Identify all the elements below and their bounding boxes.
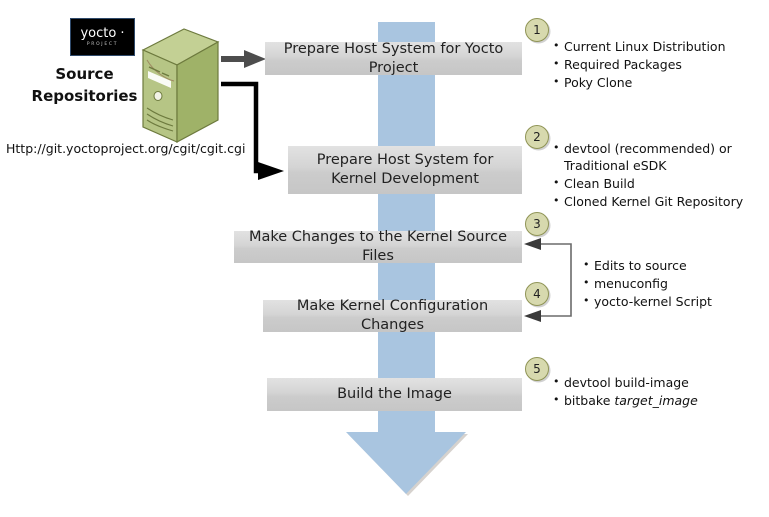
list-item: devtool (recommended) or Traditional eSD… — [553, 140, 758, 174]
list-item: bitbake target_image — [553, 392, 753, 409]
yocto-logo-text: yocto · — [80, 27, 124, 40]
list-item-emphasis: target_image — [614, 393, 697, 408]
step-number-5: 5 — [525, 357, 549, 381]
list-item: menuconfig — [583, 275, 743, 292]
process-box-step3[interactable]: Make Changes to the Kernel Source Files — [234, 231, 522, 263]
server-tower-icon — [138, 28, 223, 143]
bullet-list-steps-3-4: Edits to source menuconfig yocto-kernel … — [583, 257, 743, 311]
yocto-logo-subtext: PROJECT — [87, 42, 118, 47]
list-item: Current Linux Distribution — [553, 38, 763, 55]
list-item: yocto-kernel Script — [583, 293, 743, 310]
process-box-step4[interactable]: Make Kernel Configuration Changes — [263, 300, 522, 332]
bracket-steps-3-4 — [524, 238, 571, 322]
bullet-list-step2: devtool (recommended) or Traditional eSD… — [553, 140, 758, 211]
list-item: Clean Build — [553, 175, 758, 192]
diagram-canvas: yocto · PROJECT Source Repositories Http… — [0, 0, 769, 517]
step-number-4: 4 — [525, 282, 549, 306]
list-item-text: bitbake — [564, 393, 614, 408]
source-label-line1: Source — [22, 63, 147, 85]
source-label-line2: Repositories — [22, 85, 147, 107]
list-item: devtool build-image — [553, 374, 753, 391]
process-box-step5[interactable]: Build the Image — [267, 378, 522, 411]
list-item: Edits to source — [583, 257, 743, 274]
process-box-step2[interactable]: Prepare Host System for Kernel Developme… — [288, 146, 522, 194]
source-repositories-label: Source Repositories — [22, 63, 147, 107]
yocto-project-logo: yocto · PROJECT — [70, 18, 135, 56]
bullet-list-step5: devtool build-image bitbake target_image — [553, 374, 753, 410]
step-number-1: 1 — [525, 18, 549, 42]
list-item-text: devtool build-image — [564, 375, 689, 390]
arrow-server-to-step1 — [221, 50, 266, 68]
source-repository-url: Http://git.yoctoproject.org/cgit/cgit.cg… — [6, 141, 245, 156]
list-item: Poky Clone — [553, 74, 763, 91]
blue-flow-arrow-head — [346, 432, 466, 494]
process-box-step1[interactable]: Prepare Host System for Yocto Project — [265, 42, 522, 75]
list-item: Required Packages — [553, 56, 763, 73]
arrow-server-to-step2 — [221, 84, 284, 180]
step-number-2: 2 — [525, 125, 549, 149]
bullet-list-step1: Current Linux Distribution Required Pack… — [553, 38, 763, 92]
step-number-3: 3 — [525, 212, 549, 236]
list-item: Cloned Kernel Git Repository — [553, 193, 758, 210]
